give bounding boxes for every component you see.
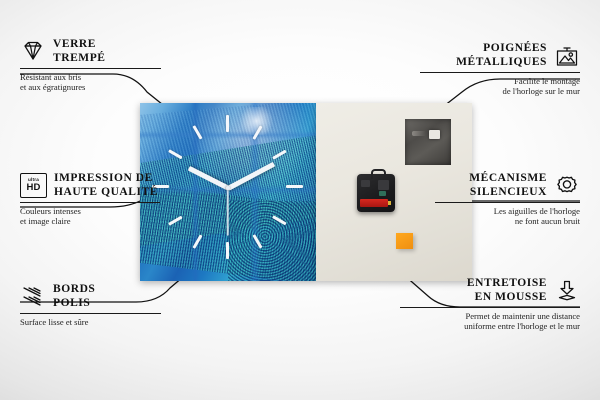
quartz-movement — [357, 174, 395, 212]
foam-spacer-arrow-icon — [554, 279, 580, 303]
feature-rule — [420, 72, 580, 73]
feature-rule — [20, 68, 161, 69]
feature-sub-line1: Couleurs intenses — [20, 206, 195, 216]
feature-sub-line2: ne font aucun bruit — [420, 216, 580, 226]
feature-rule — [400, 307, 580, 308]
feature-title-line2: SILENCIEUX — [469, 186, 547, 200]
feature-poignees-metalliques: POIGNÉES MÉTALLIQUES Facilite le montage… — [420, 42, 580, 97]
feature-sub-line2: et image claire — [20, 216, 195, 226]
feature-title-line2: POLIS — [53, 297, 95, 311]
feature-title-line1: BORDS — [53, 283, 95, 297]
feature-title-line1: MÉCANISME — [469, 172, 547, 186]
second-hand — [227, 188, 229, 236]
hanger-keyhole — [429, 130, 440, 139]
metal-hanger-plate — [405, 119, 451, 165]
feature-bords-polis: BORDS POLIS Surface lisse et sûre — [20, 283, 180, 327]
polished-edges-icon — [20, 285, 46, 309]
feature-sub-line1: Surface lisse et sûre — [20, 317, 180, 327]
feature-sub-line1: Facilite le montage — [420, 76, 580, 86]
aa-battery — [360, 199, 388, 207]
movement-detail-2 — [378, 180, 389, 190]
feature-impression-haute-qualite: ultra HD IMPRESSION DE HAUTE QUALITÉ Cou… — [20, 172, 195, 227]
hd-badge-hd-label: HD — [26, 183, 40, 193]
feature-rule — [20, 202, 160, 203]
feature-title-line1: ENTRETOISE — [467, 277, 547, 291]
feature-mecanisme-silencieux: MÉCANISME SILENCIEUX Les aiguilles de l'… — [420, 172, 580, 227]
feature-sub-line2: uniforme entre l'horloge et le mur — [400, 321, 580, 331]
foam-spacer — [396, 233, 413, 249]
movement-detail-3 — [379, 191, 386, 196]
tick-12 — [226, 115, 229, 132]
wave-pattern-corner — [228, 201, 316, 281]
feature-rule — [20, 313, 161, 314]
feature-sub-line1: Permet de maintenir une distance — [400, 311, 580, 321]
feature-sub-line1: Résistant aux bris — [20, 72, 180, 82]
feature-title-line2: HAUTE QUALITÉ — [54, 186, 158, 200]
light-band-horizontal-1 — [140, 131, 316, 139]
hanger-slot — [412, 131, 426, 136]
picture-frame-icon — [554, 44, 580, 68]
feature-sub-line1: Les aiguilles de l'horloge — [420, 206, 580, 216]
diamond-icon — [20, 40, 46, 64]
movement-hook — [371, 169, 386, 179]
feature-title-line2: MÉTALLIQUES — [456, 56, 547, 70]
gear-icon — [554, 174, 580, 198]
feature-title-line2: TREMPÉ — [53, 52, 106, 66]
tick-3 — [286, 185, 303, 188]
feature-sub-line2: de l'horloge sur le mur — [420, 86, 580, 96]
feature-rule — [435, 202, 580, 203]
hands-center-pin — [226, 186, 230, 190]
movement-detail-1 — [361, 180, 370, 187]
infographic-canvas: VERRE TREMPÉ Résistant aux bris et aux é… — [0, 0, 600, 400]
tick-6 — [226, 242, 229, 259]
feature-entretoise-en-mousse: ENTRETOISE EN MOUSSE Permet de maintenir… — [400, 277, 580, 332]
feature-title-line1: POIGNÉES — [456, 42, 547, 56]
feature-sub-line2: et aux égratignures — [20, 82, 180, 92]
feature-title-line1: VERRE — [53, 38, 106, 52]
feature-title-line2: EN MOUSSE — [467, 291, 547, 305]
feature-title-line1: IMPRESSION DE — [54, 172, 158, 186]
feature-verre-trempe: VERRE TREMPÉ Résistant aux bris et aux é… — [20, 38, 180, 93]
ultra-hd-badge-icon: ultra HD — [20, 173, 47, 198]
